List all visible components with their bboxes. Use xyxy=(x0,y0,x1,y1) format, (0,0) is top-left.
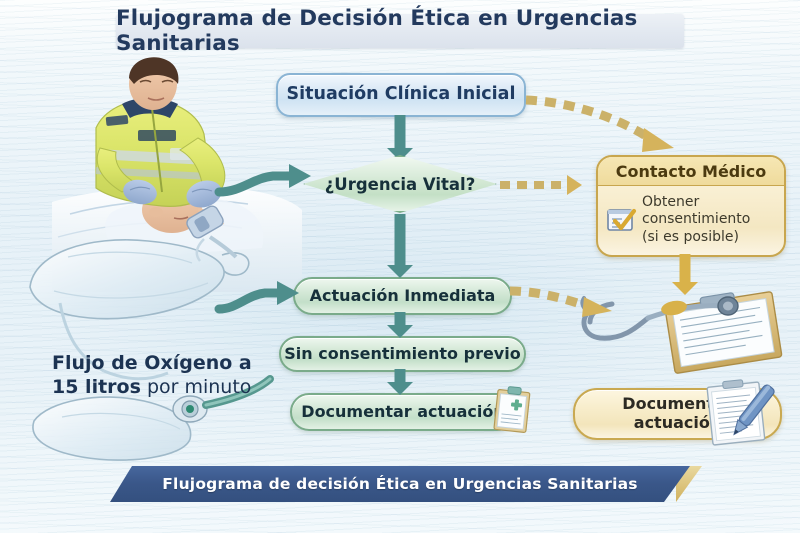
clipboard-pen-icon xyxy=(700,378,782,450)
caption-line-1: Flujo de Oxígeno a xyxy=(52,352,252,374)
arrow-decision-to-actuacion xyxy=(385,214,415,278)
document-check-icon xyxy=(606,206,636,234)
arrow-sinconsentimiento-to-documentar xyxy=(385,369,415,395)
arrowhead xyxy=(567,175,582,195)
arrow-decision-to-contacto-dashed xyxy=(500,175,582,195)
node-contacto-medico-body: Obtener consentimiento (si es posible) xyxy=(598,185,784,255)
node-contacto-medico-header: Contacto Médico xyxy=(598,157,784,186)
node-situacion-clinica-inicial-label: Situación Clínica Inicial xyxy=(287,85,516,105)
footer-banner: Flujograma de decisión Ética en Urgencia… xyxy=(110,466,690,502)
contacto-line-2: consentimiento xyxy=(642,211,750,228)
node-sin-consentimiento-previo[interactable]: Sin consentimiento previo xyxy=(279,336,526,372)
contacto-line-3: (si es posible) xyxy=(642,229,750,246)
oxygen-mask-connector xyxy=(170,195,250,275)
page-title-text: Flujograma de Decisión Ética en Urgencia… xyxy=(116,6,684,56)
node-urgencia-vital[interactable]: ¿Urgencia Vital? xyxy=(303,155,497,213)
dashed-line-segment xyxy=(500,181,566,189)
contacto-line-1: Obtener xyxy=(642,194,750,211)
page-title: Flujograma de Decisión Ética en Urgencia… xyxy=(116,14,684,48)
node-documentar-actuacion-label: Documentar actuación xyxy=(301,403,504,421)
node-actuacion-inmediata[interactable]: Actuación Inmediata xyxy=(293,277,512,315)
arrow-scene-to-actuacion xyxy=(215,275,305,315)
arrow-actuacion-to-sinconsentimiento xyxy=(385,312,415,338)
arrow-scene-to-decision xyxy=(215,158,315,198)
caption-line-2-bold: 15 litros xyxy=(52,376,141,398)
clipboard-medical-icon xyxy=(488,385,536,435)
oxygen-flow-caption: Flujo de Oxígeno a 15 litros por minuto xyxy=(52,352,277,400)
node-situacion-clinica-inicial[interactable]: Situación Clínica Inicial xyxy=(276,73,526,117)
arrow-actuacion-to-documentar-dashed xyxy=(508,283,618,319)
footer-banner-label: Flujograma de decisión Ética en Urgencia… xyxy=(110,466,690,502)
node-contacto-medico-text: Obtener consentimiento (si es posible) xyxy=(642,194,750,245)
infographic-canvas: Flujograma de Decisión Ética en Urgencia… xyxy=(0,0,800,533)
node-documentar-actuacion[interactable]: Documentar actuación xyxy=(290,393,516,431)
node-urgencia-vital-label: ¿Urgencia Vital? xyxy=(303,155,497,213)
caption-line-2-light: por minuto xyxy=(141,376,252,398)
arrow-start-to-contacto-dashed xyxy=(524,86,689,156)
node-actuacion-inmediata-label: Actuación Inmediata xyxy=(310,287,496,305)
node-contacto-medico[interactable]: Contacto Médico Obtener consentimiento (… xyxy=(596,155,786,257)
node-sin-consentimiento-previo-label: Sin consentimiento previo xyxy=(284,345,520,363)
sin-consentimiento-bold: Sin consentimiento previo xyxy=(284,344,520,363)
